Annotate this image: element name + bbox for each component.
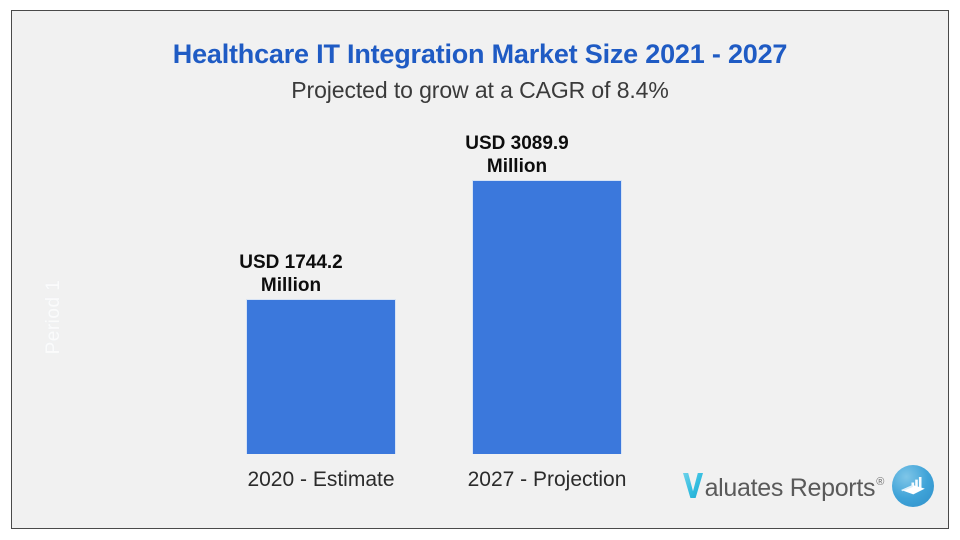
- bar-value-label-2027: USD 3089.9 Million: [402, 132, 632, 180]
- brand-name-text: aluates Reports: [705, 474, 876, 503]
- bar-value-label-2020: USD 1744.2 Million: [176, 251, 406, 299]
- brand-badge-icon: [892, 465, 934, 507]
- brand-logo[interactable]: aluates Reports ®: [682, 464, 934, 508]
- valuates-v-icon: [682, 472, 704, 499]
- category-label-2020: 2020 - Estimate: [206, 468, 436, 492]
- bar-2027-projection[interactable]: [472, 180, 622, 454]
- chart-container: Healthcare IT Integration Market Size 20…: [11, 10, 949, 529]
- registered-trademark-icon: ®: [876, 476, 884, 488]
- brand-wordmark: aluates Reports ®: [682, 469, 883, 503]
- plot-area: USD 1744.2 Million 2020 - Estimate USD 3…: [12, 11, 948, 528]
- bar-2020-estimate[interactable]: [246, 299, 396, 454]
- category-label-2027: 2027 - Projection: [432, 468, 662, 492]
